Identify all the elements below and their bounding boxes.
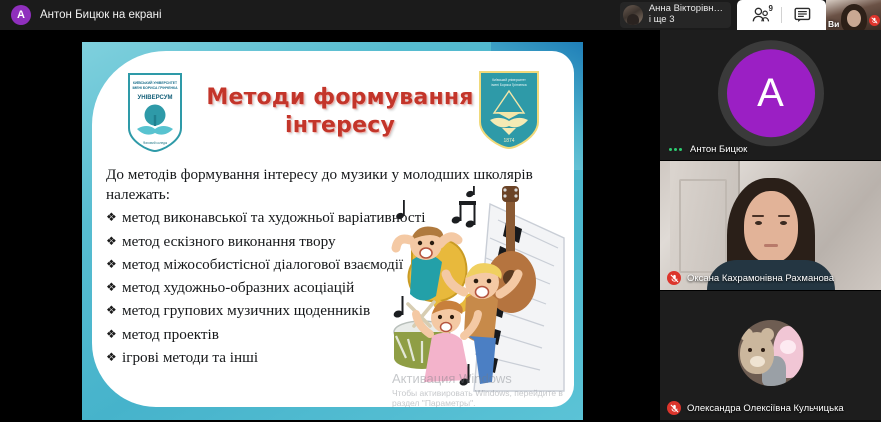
bear-snout: [750, 356, 765, 367]
eyebrow-right: [778, 215, 790, 217]
slide-content-area: КИЇВСЬКИЙ УНІВЕРСИТЕТ ІМЕНІ БОРИСА ГРІНЧ…: [92, 51, 574, 407]
bear-eye-right: [761, 348, 765, 352]
sharing-indicator: A Антон Бицюк на екрані: [0, 5, 162, 25]
children-music-illustration: [378, 186, 568, 401]
participant-chip-more: і ще 3: [649, 15, 723, 26]
meeting-window: A Антон Бицюк на екрані Анна Вікторівн… …: [0, 0, 881, 422]
bullet-icon: ❖: [106, 301, 119, 320]
bullet-icon: ❖: [106, 255, 119, 274]
mic-off-glyph: [670, 274, 679, 283]
slide-title: Методи формування інтересу: [196, 84, 484, 140]
participant-tile-label: Антон Бицюк: [667, 144, 747, 155]
crest-logo-icon: Київський університет імені Бориса Грінч…: [478, 70, 540, 150]
list-item-label: метод ескізного виконання твору: [122, 232, 336, 252]
self-view-thumbnail[interactable]: Ви: [826, 0, 881, 30]
participant-chip-thumbnail: [623, 5, 643, 25]
eyebrow-left: [752, 215, 764, 217]
sharing-label: Антон Бицюк на екрані: [40, 9, 162, 21]
slide-title-line1: Методи формування: [196, 84, 484, 112]
participants-button[interactable]: 9: [741, 2, 781, 28]
svg-text:Київський університет: Київський університет: [492, 78, 526, 82]
svg-text:Фаховий коледж: Фаховий коледж: [143, 141, 168, 145]
bullet-icon: ❖: [106, 232, 119, 251]
eye-right: [780, 221, 787, 225]
participant-tile-label: Оксана Кахрамонівна Рахманова: [667, 271, 834, 285]
svg-text:імені Бориса Грінченка: імені Бориса Грінченка: [491, 83, 526, 87]
bullet-icon: ❖: [106, 278, 119, 297]
chat-button[interactable]: [782, 2, 822, 28]
participant-tile-label: Олександра Олексіївна Кульчицька: [667, 401, 844, 415]
svg-text:ІМЕНІ БОРИСА ГРІНЧЕНКА: ІМЕНІ БОРИСА ГРІНЧЕНКА: [132, 86, 178, 90]
self-view-mic-off-badge: [869, 15, 880, 26]
eye-left: [755, 221, 762, 225]
teddy-bear-shape: [740, 332, 774, 374]
participant-name: Олександра Олексіївна Кульчицька: [687, 403, 844, 414]
shared-screen-stage[interactable]: КИЇВСЬКИЙ УНІВЕРСИТЕТ ІМЕНІ БОРИСА ГРІНЧ…: [0, 30, 660, 422]
participant-tile-anton-bytsiuk[interactable]: A Антон Бицюк: [660, 30, 881, 160]
university-crest-logo: Київський університет імені Бориса Грінч…: [478, 70, 540, 150]
participant-chip[interactable]: Анна Вікторівн… і ще 3: [620, 2, 731, 28]
participants-sidebar: A Антон Бицюк: [660, 30, 881, 422]
sharing-avatar: A: [11, 5, 31, 25]
screen-share-dots-icon: [667, 148, 684, 151]
universum-college-logo: КИЇВСЬКИЙ УНІВЕРСИТЕТ ІМЕНІ БОРИСА ГРІНЧ…: [126, 71, 184, 154]
bullet-icon: ❖: [106, 325, 119, 344]
mic-off-icon: [871, 17, 878, 24]
participants-count-badge: 9: [769, 4, 773, 13]
toolbar: 9: [737, 0, 826, 30]
participant-tile-oleksandra-kulchytska[interactable]: Олександра Олексіївна Кульчицька: [660, 290, 881, 420]
chat-icon: [794, 7, 811, 23]
list-item-label: метод групових музичних щоденників: [122, 301, 370, 321]
bullet-icon: ❖: [106, 348, 119, 367]
music-kids-icon: [378, 186, 568, 401]
bullet-icon: ❖: [106, 208, 119, 227]
shield-logo-icon: КИЇВСЬКИЙ УНІВЕРСИТЕТ ІМЕНІ БОРИСА ГРІНЧ…: [126, 71, 184, 154]
list-item-label: ігрові методи та інші: [122, 348, 258, 368]
mic-off-glyph: [670, 404, 679, 413]
svg-text:КИЇВСЬКИЙ УНІВЕРСИТЕТ: КИЇВСЬКИЙ УНІВЕРСИТЕТ: [133, 81, 178, 85]
avatar: A: [727, 49, 815, 137]
presentation-slide: КИЇВСЬКИЙ УНІВЕРСИТЕТ ІМЕНІ БОРИСА ГРІНЧ…: [82, 42, 583, 420]
self-view-label: Ви: [828, 19, 839, 29]
bear-eye-left: [748, 348, 752, 352]
participant-chip-text: Анна Вікторівн… і ще 3: [649, 4, 723, 25]
list-item-label: метод міжособистісної діалогової взаємод…: [122, 255, 403, 275]
svg-text:1874: 1874: [503, 138, 514, 144]
participant-name: Оксана Кахрамонівна Рахманова: [687, 273, 834, 284]
list-item-label: метод проектів: [122, 325, 219, 345]
svg-text:УНІВЕРСУМ: УНІВЕРСУМ: [138, 95, 173, 101]
avatar: [738, 320, 804, 386]
participant-name: Антон Бицюк: [690, 144, 747, 155]
slide-title-line2: інтересу: [196, 112, 484, 140]
face-shape: [744, 191, 798, 263]
mouth: [764, 244, 778, 247]
top-bar: A Антон Бицюк на екрані Анна Вікторівн… …: [0, 0, 881, 30]
list-item-label: метод художньо-образних асоціацій: [122, 278, 354, 298]
mic-off-icon: [667, 401, 681, 415]
mic-off-icon: [667, 271, 681, 285]
participant-tile-oksana-rakhmanova[interactable]: Оксана Кахрамонівна Рахманова: [660, 160, 881, 290]
